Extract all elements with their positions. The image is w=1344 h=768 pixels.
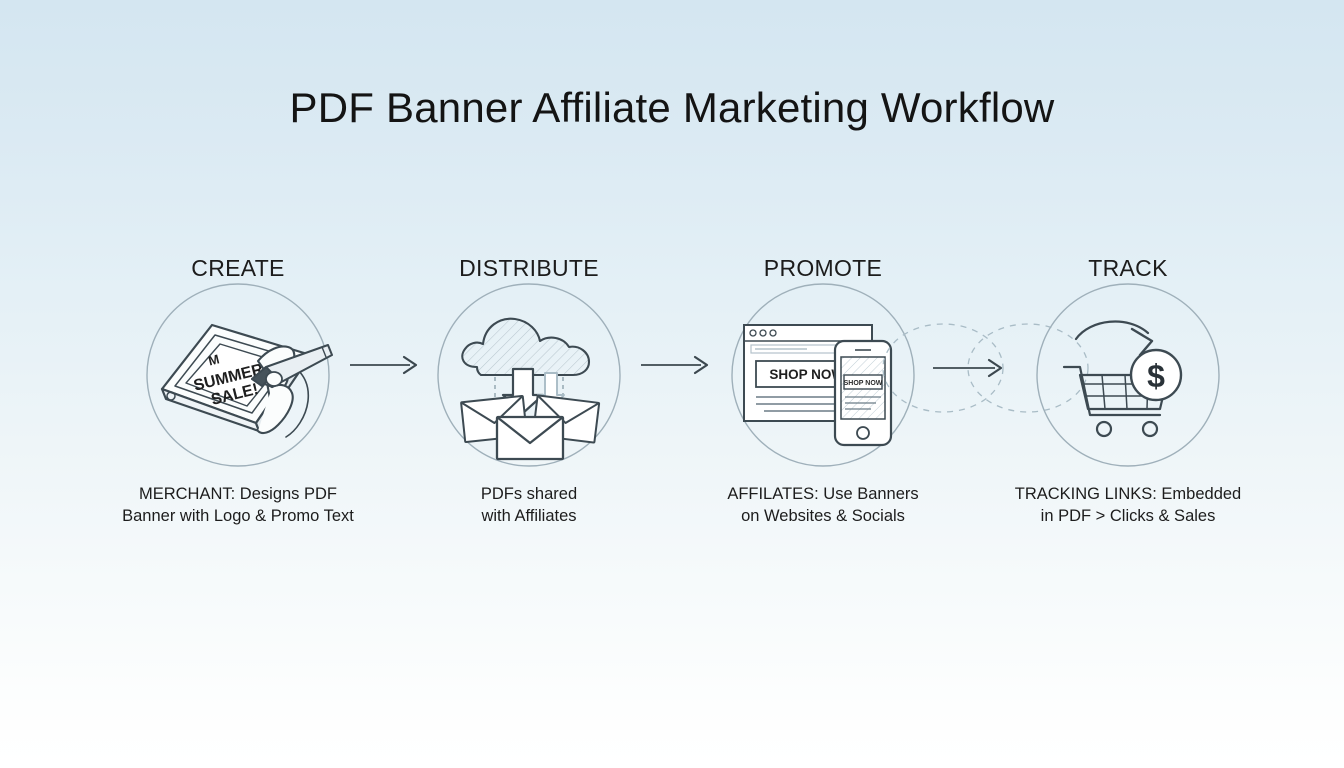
phone-device: SHOP NOW: [835, 341, 891, 445]
workflow-diagram: PDF Banner Affiliate Marketing Workflow …: [0, 0, 1344, 768]
cloud-envelopes-icon: [437, 283, 621, 467]
step-caption-create: MERCHANT: Designs PDF Banner with Logo &…: [98, 483, 378, 527]
tablet-stylus-icon: M SUMMER SALE!: [146, 283, 330, 467]
dollar-sign-text: $: [1147, 358, 1165, 394]
browser-phone-icon: SHOP NOW! SHOP NOW: [731, 283, 915, 467]
step-caption-distribute: PDFs shared with Affiliates: [389, 483, 669, 527]
curved-arrow-icon: [1076, 322, 1152, 355]
page-title: PDF Banner Affiliate Marketing Workflow: [0, 84, 1344, 132]
step-caption-track: TRACKING LINKS: Embedded in PDF > Clicks…: [988, 483, 1268, 527]
step-label-create: CREATE: [118, 255, 358, 282]
step-label-distribute: DISTRIBUTE: [409, 255, 649, 282]
phone-banner-text: SHOP NOW: [844, 380, 883, 387]
arrow-distribute-to-promote: [639, 350, 717, 380]
step-label-promote: PROMOTE: [703, 255, 943, 282]
arrow-create-to-distribute: [348, 350, 426, 380]
step-label-track: TRACK: [1008, 255, 1248, 282]
dollar-coin-icon: $: [1131, 350, 1181, 400]
step-caption-promote: AFFILATES: Use Banners on Websites & Soc…: [683, 483, 963, 527]
cart-dollar-icon: $: [1036, 283, 1220, 467]
cloud-shape: [462, 319, 589, 375]
envelope-center: [497, 417, 563, 459]
